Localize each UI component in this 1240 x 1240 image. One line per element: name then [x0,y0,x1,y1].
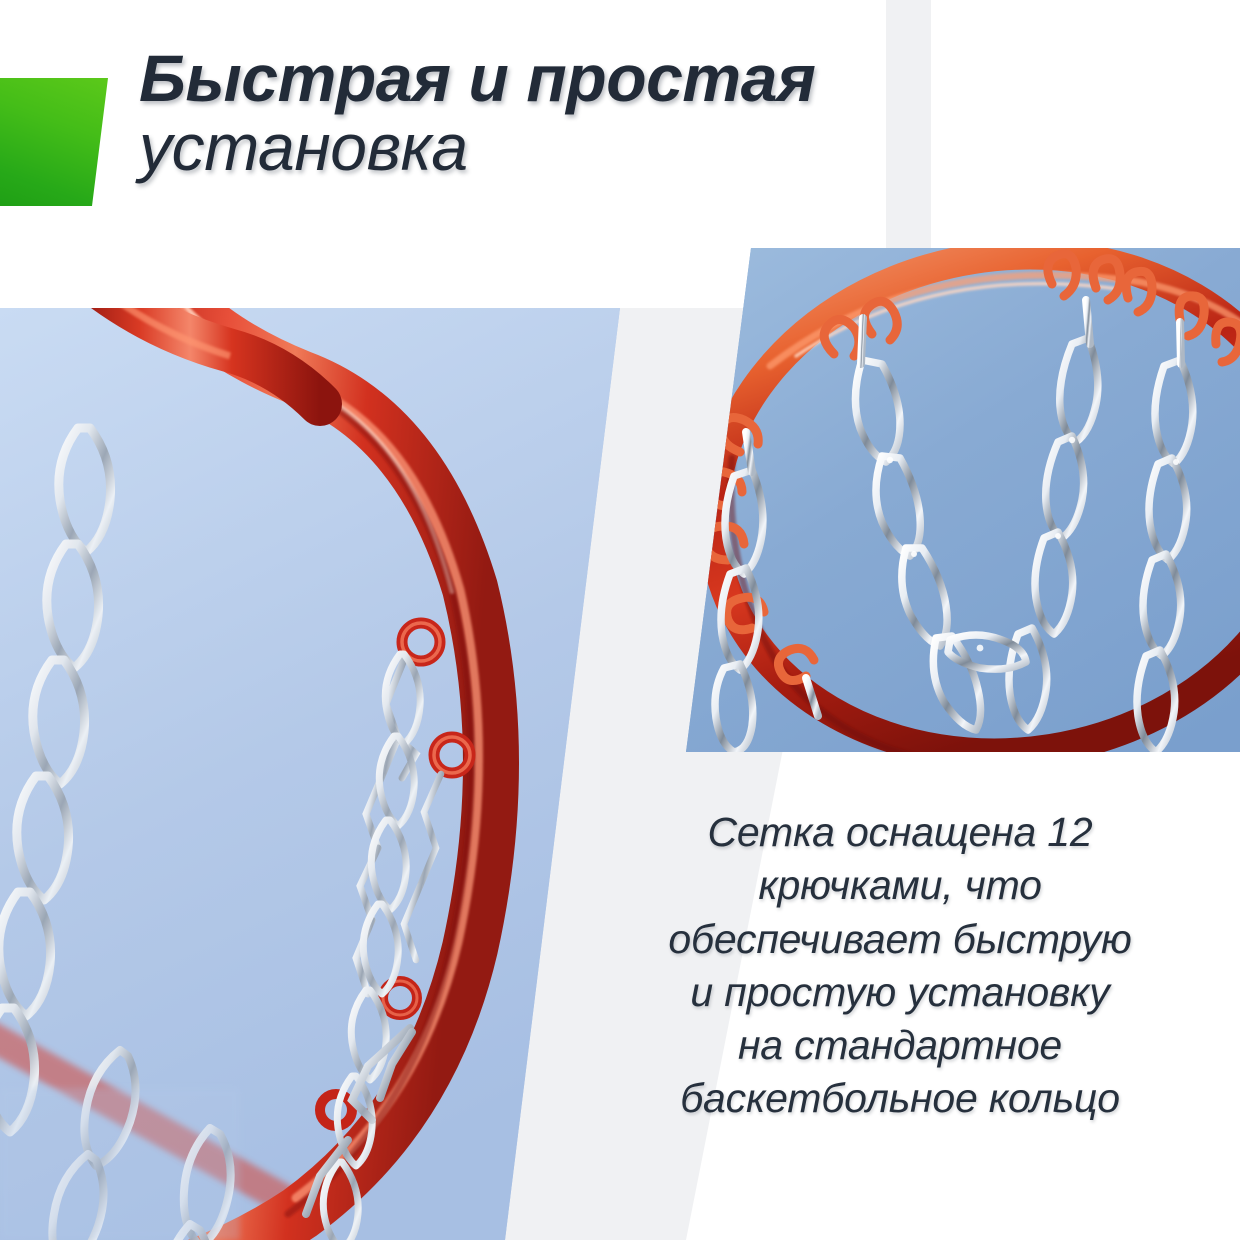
description-line-2: крючками, что [600,859,1200,912]
description-line-1: Сетка оснащена 12 [600,806,1200,859]
page-title-line-1: Быстрая и простая [139,48,959,109]
description-line-4: и простую установку [600,966,1200,1019]
page-title-line-2: установка [139,117,959,178]
promo-banner: Быстрая и простая установка [0,0,1240,1240]
description-text: Сетка оснащена 12 крючками, что обеспечи… [600,806,1200,1126]
page-title: Быстрая и простая установка [139,48,959,179]
description-line-6: баскетбольное кольцо [600,1072,1200,1125]
description-line-5: на стандартное [600,1019,1200,1072]
description-line-3: обеспечивает быструю [600,913,1200,966]
